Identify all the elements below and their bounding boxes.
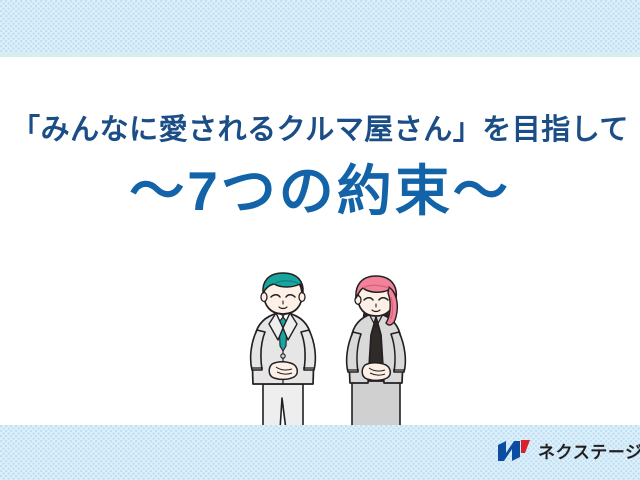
top-dotted-band (0, 0, 640, 57)
male-staff-bowing (251, 273, 316, 430)
nextage-n-mark (497, 439, 531, 463)
staff-illustration (236, 272, 432, 430)
banner-canvas: 「みんなに愛されるクルマ屋さん」を目指して ～7つの約束～ (0, 0, 640, 480)
nextage-logo-text: ネクステージ (538, 438, 640, 463)
headline-title: ～7つの約束～ (0, 159, 640, 224)
headline-subtitle: 「みんなに愛されるクルマ屋さん」を目指して (0, 112, 640, 148)
headline-block: 「みんなに愛されるクルマ屋さん」を目指して ～7つの約束～ (0, 112, 640, 224)
female-staff-bowing (347, 276, 406, 430)
nextage-logo: ネクステージ (497, 438, 640, 463)
